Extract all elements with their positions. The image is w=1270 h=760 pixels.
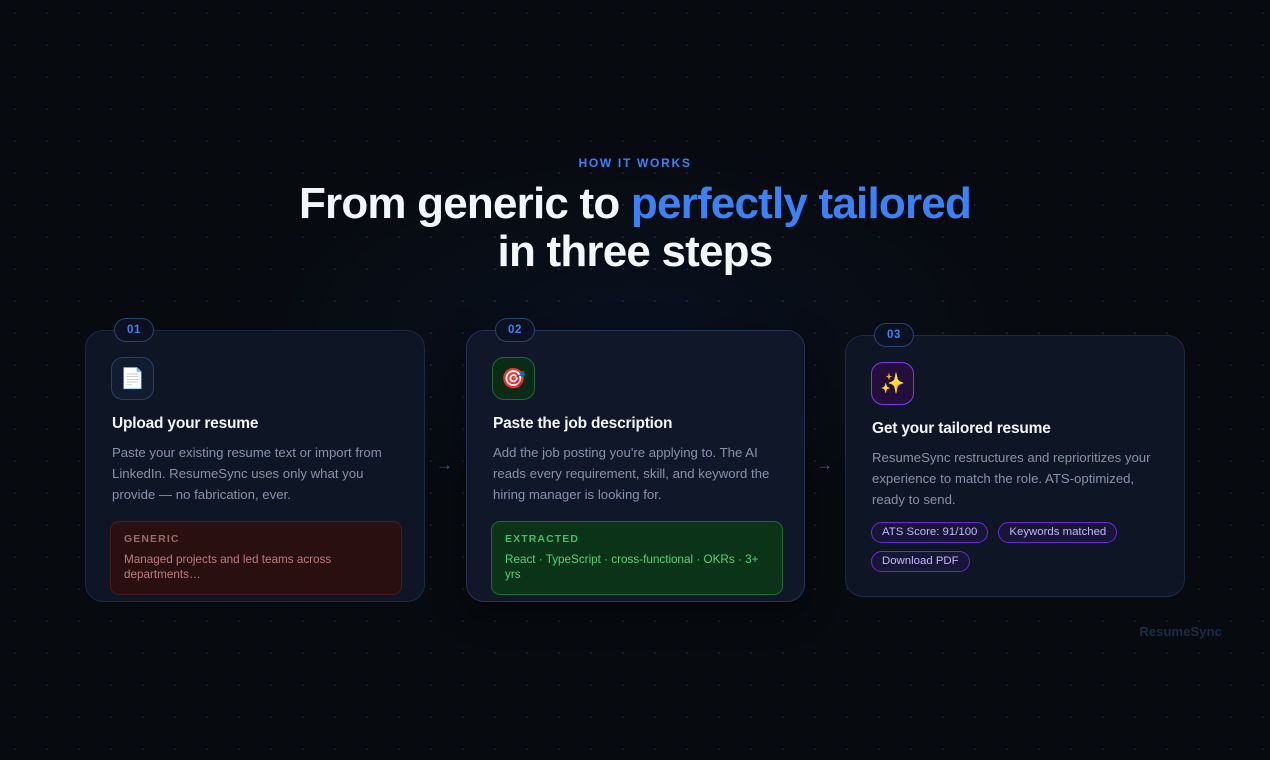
extracted-snippet-text: React · TypeScript · cross-functional · … <box>505 552 769 582</box>
headline-line1-highlight: perfectly tailored <box>631 179 971 228</box>
chip-download-pdf[interactable]: Download PDF <box>871 551 970 572</box>
step-description-1: Paste your existing resume text or impor… <box>112 443 404 505</box>
step-description-2: Add the job posting you're applying to. … <box>493 443 785 505</box>
generic-snippet-label: GENERIC <box>124 533 388 545</box>
arrow-right-icon-2: → <box>816 456 833 473</box>
generic-snippet-text: Managed projects and led teams across de… <box>124 552 388 582</box>
page-title: From generic to perfectly tailored in th… <box>0 180 1270 276</box>
step-description-3: ResumeSync restructures and reprioritize… <box>872 448 1164 510</box>
extracted-snippet-box: EXTRACTED React · TypeScript · cross-fun… <box>491 521 783 595</box>
direct-hit-target-icon: 🎯 <box>492 357 535 400</box>
headline-line1-plain: From generic to <box>299 179 631 228</box>
step-number-badge-3: 03 <box>874 323 914 347</box>
step-title-1: Upload your resume <box>112 415 402 433</box>
step-card-3[interactable]: 03 ✨ Get your tailored resume ResumeSync… <box>845 335 1185 597</box>
extracted-snippet-label: EXTRACTED <box>505 533 769 545</box>
section-eyebrow: HOW IT WORKS <box>0 156 1270 170</box>
step-title-3: Get your tailored resume <box>872 420 1162 438</box>
step-card-2[interactable]: 02 🎯 Paste the job description Add the j… <box>466 330 805 602</box>
step-title-2: Paste the job description <box>493 415 783 433</box>
chip-keywords-matched[interactable]: Keywords matched <box>998 522 1117 543</box>
headline-line2: in three steps <box>498 227 773 276</box>
how-it-works-section: HOW IT WORKS From generic to perfectly t… <box>0 0 1270 760</box>
generic-snippet-box: GENERIC Managed projects and led teams a… <box>110 521 402 595</box>
page-facing-up-icon: 📄 <box>111 357 154 400</box>
brand-watermark: ResumeSync <box>1139 624 1222 639</box>
result-chip-list: ATS Score: 91/100 Keywords matched Downl… <box>871 522 1171 572</box>
sparkles-icon: ✨ <box>871 362 914 405</box>
step-number-badge-2: 02 <box>495 318 535 342</box>
step-number-badge-1: 01 <box>114 318 154 342</box>
arrow-right-icon-1: → <box>436 456 453 473</box>
step-card-1[interactable]: 01 📄 Upload your resume Paste your exist… <box>85 330 425 602</box>
chip-ats-score[interactable]: ATS Score: 91/100 <box>871 522 988 543</box>
